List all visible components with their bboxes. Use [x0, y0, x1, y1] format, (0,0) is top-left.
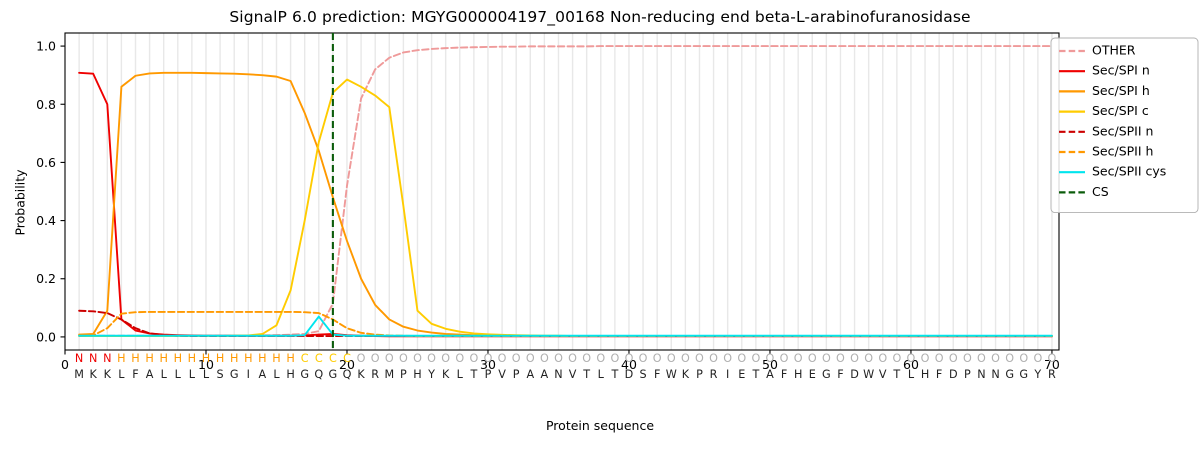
region-letter: O [808, 352, 817, 365]
residue-letter: V [569, 368, 577, 381]
region-letter: H [202, 352, 210, 365]
region-letter: O [1033, 352, 1042, 365]
region-letter: H [159, 352, 167, 365]
residue-letter: A [526, 368, 534, 381]
region-letter: O [949, 352, 958, 365]
region-letter: O [850, 352, 859, 365]
region-letter: O [822, 352, 831, 365]
region-letter: O [723, 352, 732, 365]
region-letter: O [427, 352, 436, 365]
residue-letter: A [146, 368, 154, 381]
region-letter: O [709, 352, 718, 365]
y-tick-label: 0.2 [36, 271, 56, 286]
residue-letter: K [104, 368, 112, 381]
region-letter: H [216, 352, 224, 365]
region-letter: O [667, 352, 676, 365]
region-letter: C [301, 352, 309, 365]
region-letter: O [935, 352, 944, 365]
region-letter: O [864, 352, 873, 365]
region-letter: O [582, 352, 591, 365]
region-letter: H [230, 352, 238, 365]
region-letter: H [286, 352, 294, 365]
residue-letter: N [554, 368, 562, 381]
residue-letter: Q [343, 368, 352, 381]
residue-letter: G [329, 368, 338, 381]
residue-letter: L [189, 368, 196, 381]
series-line-sec-spi-n [79, 73, 1052, 336]
region-letter: O [469, 352, 478, 365]
residue-letter: E [809, 368, 816, 381]
region-letter: O [399, 352, 408, 365]
region-letter: O [892, 352, 901, 365]
residue-letter: M [384, 368, 394, 381]
residue-letter: A [259, 368, 267, 381]
residue-letter: N [977, 368, 985, 381]
region-letter: O [963, 352, 972, 365]
residue-letter: K [442, 368, 450, 381]
y-tick-label: 0.8 [36, 97, 56, 112]
residue-letter: R [710, 368, 718, 381]
region-letter: O [498, 352, 507, 365]
region-letter: C [315, 352, 323, 365]
residue-letter: G [1019, 368, 1028, 381]
residue-letter: H [921, 368, 929, 381]
series-line-sec-spii-h [79, 312, 1052, 336]
residue-letter: H [413, 368, 421, 381]
residue-letter: F [654, 368, 660, 381]
residue-letter: P [400, 368, 407, 381]
series-line-sec-spi-c [79, 80, 1052, 337]
residue-letter: G [300, 368, 309, 381]
residue-letter: E [738, 368, 745, 381]
y-tick-label: 1.0 [36, 39, 56, 54]
region-letter: O [625, 352, 634, 365]
legend-label[interactable]: Sec/SPII cys [1092, 164, 1166, 179]
region-letter: C [343, 352, 351, 365]
plot-frame [65, 33, 1059, 350]
region-letter: O [1019, 352, 1028, 365]
residue-letter: P [485, 368, 492, 381]
region-letter: C [329, 352, 337, 365]
region-letter: O [991, 352, 1000, 365]
region-letter: H [244, 352, 252, 365]
region-letter: N [103, 352, 111, 365]
residue-letter: D [625, 368, 634, 381]
region-letter: O [766, 352, 775, 365]
legend: OTHERSec/SPI nSec/SPI hSec/SPI cSec/SPII… [1051, 38, 1198, 213]
region-letter: O [921, 352, 930, 365]
legend-label[interactable]: OTHER [1092, 43, 1136, 58]
region-letter: O [1005, 352, 1014, 365]
residue-letter: H [286, 368, 294, 381]
series-line-sec-spi-h [79, 73, 1052, 336]
y-tick-label: 0.0 [36, 329, 56, 344]
axis-ticks: 0102030405060700.00.20.40.60.81.0 [36, 39, 1060, 372]
region-letter: O [371, 352, 380, 365]
residue-letter: G [822, 368, 831, 381]
residue-letter: P [964, 368, 971, 381]
region-letter: O [596, 352, 605, 365]
residue-letter: D [850, 368, 859, 381]
residue-letter: W [863, 368, 874, 381]
legend-label[interactable]: Sec/SPII h [1092, 144, 1153, 159]
residue-letter: D [949, 368, 958, 381]
x-tick-label: 0 [61, 357, 69, 372]
residue-letter: L [908, 368, 915, 381]
region-letter: O [878, 352, 887, 365]
region-letter: O [639, 352, 648, 365]
residue-letter: R [1048, 368, 1056, 381]
region-letter: O [780, 352, 789, 365]
region-letter: O [977, 352, 986, 365]
region-letter: O [695, 352, 704, 365]
series-line-sec-spii-n [79, 311, 1052, 336]
residue-letter: A [541, 368, 549, 381]
region-letter: H [117, 352, 125, 365]
residue-letter: R [371, 368, 379, 381]
region-letter: O [385, 352, 394, 365]
residue-letter: L [203, 368, 210, 381]
residue-letter: I [726, 368, 729, 381]
residue-letter: S [217, 368, 224, 381]
plot-canvas: 0102030405060700.00.20.40.60.81.0 NNNHHH… [0, 0, 1200, 450]
region-letter: O [540, 352, 549, 365]
residue-letter: T [610, 368, 618, 381]
residue-letter: L [598, 368, 605, 381]
region-letter: O [526, 352, 535, 365]
y-axis-label: Probability [13, 143, 28, 263]
legend-label[interactable]: Sec/SPI n [1092, 63, 1150, 78]
region-letter: H [145, 352, 153, 365]
data-series [79, 46, 1052, 336]
residue-letter: L [457, 368, 464, 381]
region-letter: O [1048, 352, 1057, 365]
region-letter: H [131, 352, 139, 365]
gridlines [79, 33, 1052, 350]
residue-letter: K [682, 368, 690, 381]
residue-letter: H [794, 368, 802, 381]
legend-label[interactable]: CS [1092, 184, 1109, 199]
region-letter: O [794, 352, 803, 365]
region-letter: O [455, 352, 464, 365]
x-axis-label: Protein sequence [0, 418, 1200, 433]
residue-letter: K [357, 368, 365, 381]
region-letter: O [610, 352, 619, 365]
legend-label[interactable]: Sec/SPI h [1092, 83, 1150, 98]
legend-label[interactable]: Sec/SPI c [1092, 103, 1149, 118]
residue-letter: Y [427, 368, 435, 381]
residue-letter: L [175, 368, 182, 381]
region-letter: H [188, 352, 196, 365]
region-letter: O [413, 352, 422, 365]
region-letter: O [907, 352, 916, 365]
series-line-sec-spii-cys [79, 317, 1052, 336]
residue-letter: F [837, 368, 843, 381]
residue-letter: S [640, 368, 647, 381]
y-tick-label: 0.6 [36, 155, 56, 170]
residue-letter: A [766, 368, 774, 381]
residue-letter: M [74, 368, 84, 381]
residue-letter: G [230, 368, 239, 381]
region-letter: O [568, 352, 577, 365]
region-letter: O [441, 352, 450, 365]
residue-letter: L [118, 368, 125, 381]
region-letter: O [751, 352, 760, 365]
y-tick-label: 0.4 [36, 213, 56, 228]
residue-letter: Q [314, 368, 323, 381]
region-letter: H [174, 352, 182, 365]
residue-letter: P [513, 368, 520, 381]
region-letter: O [512, 352, 521, 365]
region-letter: H [272, 352, 280, 365]
residue-letter: W [666, 368, 677, 381]
residue-letter: L [161, 368, 168, 381]
residue-letter: Y [1033, 368, 1041, 381]
signalp-figure: SignalP 6.0 prediction: MGYG000004197_00… [0, 0, 1200, 450]
legend-label[interactable]: Sec/SPII n [1092, 123, 1153, 138]
residue-letter: V [498, 368, 506, 381]
region-letter: O [484, 352, 493, 365]
residue-letter: V [879, 368, 887, 381]
residue-letter: K [90, 368, 98, 381]
axes-border [65, 33, 1059, 350]
region-letter: O [836, 352, 845, 365]
residue-letter: T [469, 368, 477, 381]
residue-letter: G [1005, 368, 1014, 381]
residue-letter: I [247, 368, 250, 381]
residue-letter: F [132, 368, 138, 381]
residue-letter: P [696, 368, 703, 381]
residue-letter: F [781, 368, 787, 381]
residue-letter: F [936, 368, 942, 381]
region-letter: O [554, 352, 563, 365]
region-letter: N [89, 352, 97, 365]
residue-letter: T [751, 368, 759, 381]
region-letter: O [653, 352, 662, 365]
region-letter: N [75, 352, 83, 365]
residue-letter: L [273, 368, 280, 381]
region-letter: O [737, 352, 746, 365]
region-letter: O [681, 352, 690, 365]
residue-letter: N [991, 368, 999, 381]
residue-letter: T [582, 368, 590, 381]
region-letter: H [258, 352, 266, 365]
residue-letter: T [892, 368, 900, 381]
series-line-other [79, 46, 1052, 336]
region-letter: O [357, 352, 366, 365]
